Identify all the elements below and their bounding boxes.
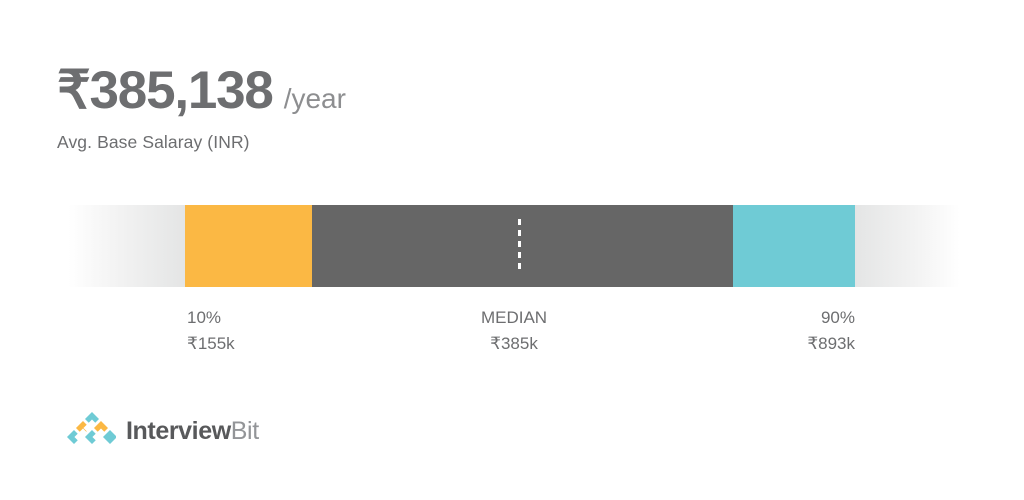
- salary-range-infographic: ₹385,138 /year Avg. Base Salaray (INR) 1…: [0, 0, 1024, 500]
- median-marker-icon: [518, 219, 521, 274]
- bar-segment-mid-range: [312, 205, 733, 287]
- bar-segment-fade-right: [855, 205, 960, 287]
- logo-word-interview: Interview: [126, 417, 231, 445]
- bar-segment-low-range: [185, 205, 312, 287]
- page-subtitle: Avg. Base Salaray (INR): [57, 132, 250, 153]
- high-percentile-label: 90%: [68, 305, 855, 331]
- salary-range-bar: [68, 205, 960, 287]
- bar-axis-labels: 10% ₹155k MEDIAN ₹385k 90% ₹893k: [68, 305, 960, 365]
- high-percentile-amount: ₹893k: [68, 331, 855, 357]
- average-salary-amount: ₹385,138: [57, 64, 273, 117]
- label-group-high: 90% ₹893k: [68, 305, 855, 358]
- headline: ₹385,138 /year: [57, 64, 346, 117]
- bar-segment-fade-left: [68, 205, 185, 287]
- bar-segment-high-range: [733, 205, 855, 287]
- logo-word-bit: Bit: [231, 417, 259, 445]
- interviewbit-diamond-mark-icon: [64, 411, 116, 451]
- bar-track: [68, 205, 960, 287]
- interviewbit-wordmark: InterviewBit: [126, 419, 259, 444]
- salary-period-label: /year: [284, 85, 346, 113]
- interviewbit-logo[interactable]: InterviewBit: [64, 410, 259, 452]
